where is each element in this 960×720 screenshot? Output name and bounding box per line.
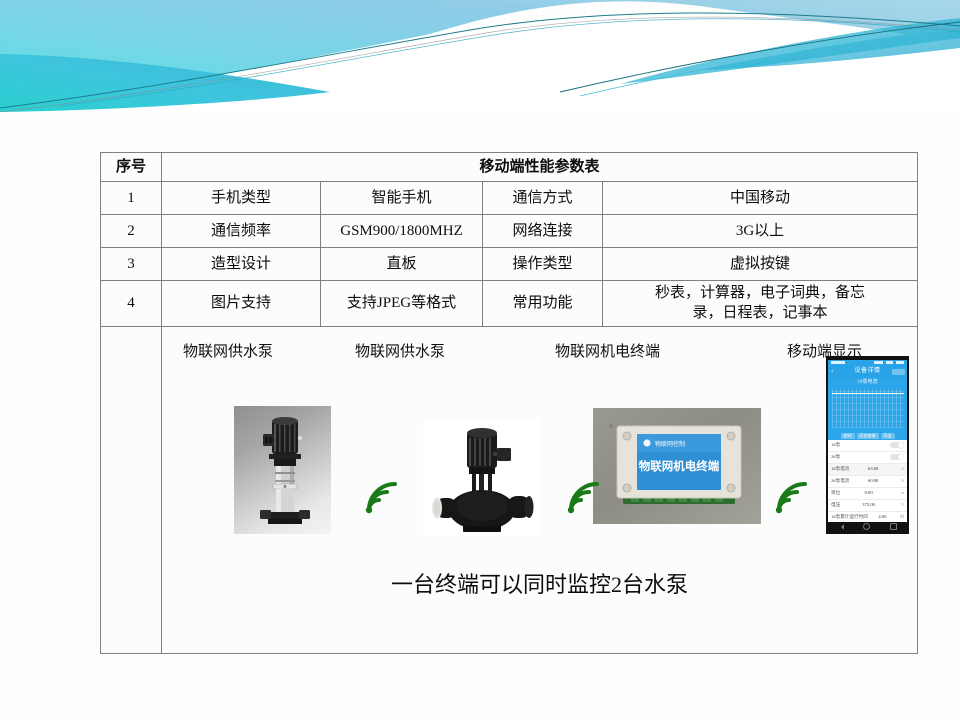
phone-nav-title: 设备详情 [854,367,880,375]
row-value-1: GSM900/1800MHZ [321,215,483,248]
decorative-wave-banner [0,0,960,112]
reading-unit: V [897,502,904,507]
reading-label: 2#泵电流 [831,478,849,484]
phone-nav-action-button[interactable] [892,369,905,375]
chart-button-realtime[interactable]: 实时 [841,433,855,438]
iot-topology-diagram: 物联网供水泵 物联网供水泵 物联网机电终端 移动端显示 [165,330,914,650]
reading-value: 375.00 [862,502,875,508]
home-nav-icon[interactable] [863,523,870,530]
table-title-row: 序号 移动端性能参数表 [101,153,918,182]
row-value-2-line1: 秒表，计算器，电子词典，备忘 [655,285,865,301]
phone-list: 1#泵 2#泵 1#泵电流 63.00 A [828,440,907,522]
row-key-1: 图片支持 [162,281,321,327]
row-value-2: 中国移动 [603,182,918,215]
diagram-row: 物联网供水泵 物联网供水泵 物联网机电终端 移动端显示 [101,326,918,653]
table-header-no: 序号 [101,153,162,182]
pump1-toggle[interactable] [890,442,904,448]
list-item: 电压 375.00 V [828,500,907,512]
mobile-spec-table: 序号 移动端性能参数表 1 手机类型 智能手机 通信方式 中国移动 2 通信频率… [100,152,918,654]
reading-value: 4.00 [878,514,886,520]
svg-text:物联网机电终端: 物联网机电终端 [639,459,720,473]
back-nav-icon[interactable] [838,524,844,530]
wifi-signal-icon [773,482,811,522]
vertical-multistage-pump-photo [234,406,331,534]
row-index: 2 [101,215,162,248]
wifi-signal-icon [363,482,401,522]
list-item: 液位 0.00 m [828,488,907,500]
phone-nav-bar[interactable]: ‹ 设备详情 [828,366,907,378]
row-index: 4 [101,281,162,327]
phone-chart-title: 1#泵电流 [828,378,907,387]
phone-current-chart: 1#泵电流 实时 历史查询 导出 [828,378,907,440]
row-value-2-line2: 录，日程表，记事本 [692,305,827,321]
diagram-caption: 一台终端可以同时监控2台水泵 [165,570,914,600]
table-title: 移动端性能参数表 [162,153,918,182]
reading-unit: 时 [897,514,904,519]
row-value-2: 秒表，计算器，电子词典，备忘 录，日程表，记事本 [603,281,918,327]
reading-value: 63.00 [868,466,878,472]
row-value-1: 直板 [321,248,483,281]
row-key-1: 通信频率 [162,215,321,248]
list-item: 2#泵电流 60.00 A [828,476,907,488]
reading-label: 液位 [831,490,840,496]
chart-button-group[interactable]: 实时 历史查询 导出 [828,433,907,438]
table-row: 3 造型设计 直板 操作类型 虚拟按键 [101,248,918,281]
reading-value: 0.00 [865,490,873,496]
reading-value: 60.00 [868,478,878,484]
pump2-toggle[interactable] [890,454,904,460]
reading-label: 1#泵累计运行时间 [831,514,868,520]
mobile-phone-photo: ‹ 设备详情 1#泵电流 实时 历史查询 [826,356,909,534]
iot-terminal-photo: 物联网控制 物联网机电终端 [593,408,761,524]
toggle-label: 2#泵 [831,454,840,460]
row-index: 1 [101,182,162,215]
row-value-1: 支持JPEG等格式 [321,281,483,327]
chart-button-export[interactable]: 导出 [881,433,895,438]
toggle-label: 1#泵 [831,442,840,448]
row-key-2: 常用功能 [483,281,603,327]
table-row: 1 手机类型 智能手机 通信方式 中国移动 [101,182,918,215]
recents-nav-icon[interactable] [890,523,897,530]
list-item[interactable]: 1#泵 [828,440,907,452]
table-row: 4 图片支持 支持JPEG等格式 常用功能 秒表，计算器，电子词典，备忘 录，日… [101,281,918,327]
diagram-label-pump2: 物联网供水泵 [355,342,445,362]
row-key-2: 通信方式 [483,182,603,215]
wifi-signal-icon [565,482,603,522]
reading-unit: A [897,466,904,471]
row-value-1: 智能手机 [321,182,483,215]
row-key-2: 操作类型 [483,248,603,281]
back-icon[interactable]: ‹ [831,368,834,375]
diagram-cell: 物联网供水泵 物联网供水泵 物联网机电终端 移动端显示 [162,326,918,653]
row-index: 3 [101,248,162,281]
chart-gridlines [832,389,904,428]
inline-pipeline-pump-photo [423,418,541,536]
reading-label: 电压 [831,502,840,508]
diagram-empty-cell [101,326,162,653]
table-row: 2 通信频率 GSM900/1800MHZ 网络连接 3G以上 [101,215,918,248]
list-item: 1#泵电流 63.00 A [828,464,907,476]
list-item: 1#泵累计运行时间 4.00 时 [828,512,907,522]
list-item[interactable]: 2#泵 [828,452,907,464]
svg-text:物联网控制: 物联网控制 [655,440,685,448]
row-value-2: 虚拟按键 [603,248,918,281]
phone-navigation-buttons[interactable] [828,522,907,532]
chart-series-line [832,393,904,394]
diagram-label-pump1: 物联网供水泵 [183,342,273,362]
reading-unit: m [897,490,904,495]
reading-label: 1#泵电流 [831,466,849,472]
row-key-1: 手机类型 [162,182,321,215]
phone-screen: ‹ 设备详情 1#泵电流 实时 历史查询 [828,360,907,522]
chart-button-history[interactable]: 历史查询 [857,433,879,438]
reading-unit: A [897,478,904,483]
row-key-1: 造型设计 [162,248,321,281]
diagram-label-terminal: 物联网机电终端 [555,342,660,362]
row-value-2: 3G以上 [603,215,918,248]
row-key-2: 网络连接 [483,215,603,248]
